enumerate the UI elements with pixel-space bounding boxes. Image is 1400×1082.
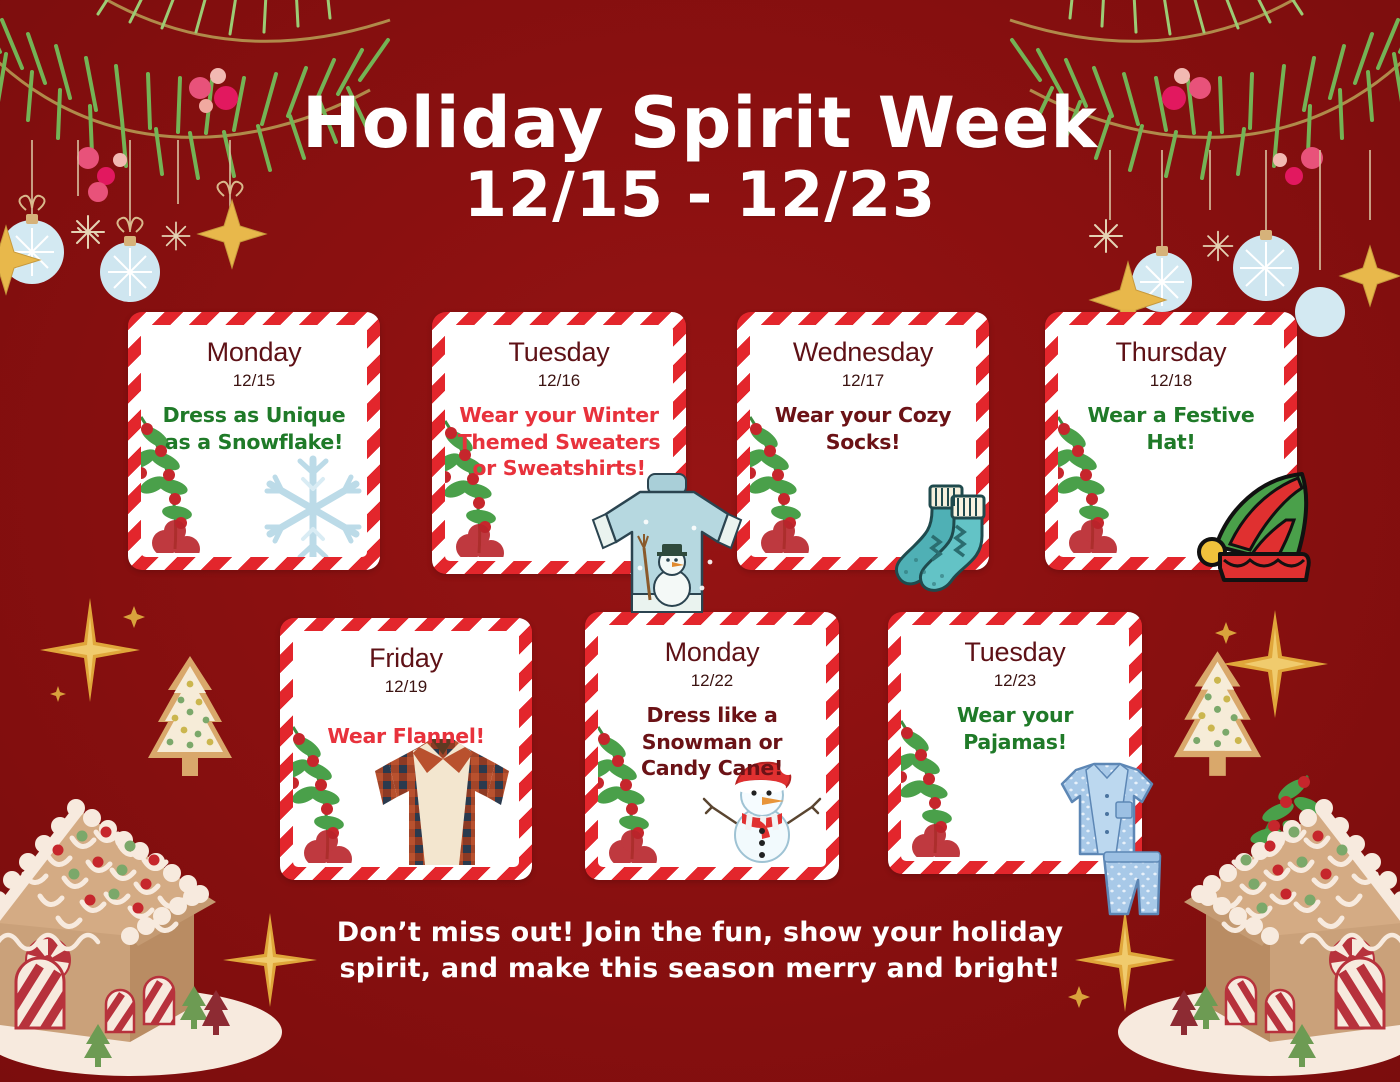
title-block: Holiday Spirit Week 12/15 - 12/23 xyxy=(0,88,1400,227)
day-card[interactable]: Friday 12/19 Wear Flannel! xyxy=(280,618,532,880)
date-range: 12/15 - 12/23 xyxy=(0,163,1400,226)
card-date-label: 12/22 xyxy=(691,671,734,691)
day-card[interactable]: Wednesday 12/17 Wear your Cozy Socks! xyxy=(737,312,989,570)
gingerbread-house-left-icon xyxy=(0,770,310,1082)
flannel-shirt-icon xyxy=(367,733,517,867)
card-date-label: 12/15 xyxy=(233,371,276,391)
card-day-label: Friday xyxy=(369,644,443,672)
day-card[interactable]: Tuesday 12/16 Wear your Winter Themed Sw… xyxy=(432,312,686,574)
footer-message: Don’t miss out! Join the fun, show your … xyxy=(300,915,1100,986)
card-day-label: Monday xyxy=(207,338,302,366)
card-message: Wear your Cozy Socks! xyxy=(750,402,976,454)
card-date-label: 12/18 xyxy=(1150,371,1193,391)
card-day-label: Wednesday xyxy=(793,338,933,366)
card-day-label: Tuesday xyxy=(964,638,1065,666)
berry-sprig-right-icon xyxy=(1212,770,1322,900)
card-date-label: 12/23 xyxy=(994,671,1037,691)
day-card[interactable]: Thursday 12/18 Wear a Festive Hat! xyxy=(1045,312,1297,570)
card-message: Dress as Unique as a Snowflake! xyxy=(141,402,367,454)
sparkle-left-icon xyxy=(30,590,150,710)
card-message: Wear your Winter Themed Sweaters or Swea… xyxy=(445,402,673,481)
tree-cookie-left-icon xyxy=(140,650,240,780)
card-day-label: Thursday xyxy=(1116,338,1227,366)
day-card[interactable]: Monday 12/22 Dress like a Snowman or Can… xyxy=(585,612,839,880)
card-message: Wear a Festive Hat! xyxy=(1058,402,1284,454)
day-card[interactable]: Tuesday 12/23 Wear your Pajamas! xyxy=(888,612,1142,874)
card-day-label: Tuesday xyxy=(508,338,609,366)
card-message: Wear your Pajamas! xyxy=(901,702,1129,754)
sparkle-right-icon xyxy=(1210,600,1340,730)
holiday-spirit-week-poster: Holiday Spirit Week 12/15 - 12/23 Monday… xyxy=(0,0,1400,1082)
card-date-label: 12/19 xyxy=(385,677,428,697)
day-card[interactable]: Monday 12/15 Dress as Unique as a Snowfl… xyxy=(128,312,380,570)
snowflake-icon xyxy=(253,449,367,557)
page-title: Holiday Spirit Week xyxy=(0,88,1400,159)
tree-cookie-right-icon xyxy=(1165,645,1270,780)
card-date-label: 12/16 xyxy=(538,371,581,391)
card-day-label: Monday xyxy=(665,638,760,666)
card-message: Dress like a Snowman or Candy Cane! xyxy=(598,702,826,781)
card-message: Wear Flannel! xyxy=(319,723,492,749)
card-date-label: 12/17 xyxy=(842,371,885,391)
